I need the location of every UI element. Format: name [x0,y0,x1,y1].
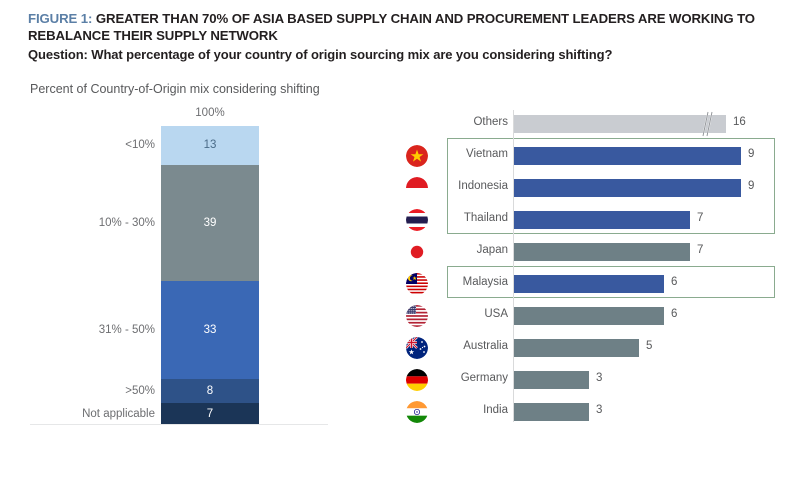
stack-segment-label: Not applicable [82,408,155,420]
bar-row-label: USA [430,308,508,320]
right-chart-baseline [513,110,514,422]
bar-value-label: 3 [596,372,602,384]
bar-row-label: Others [430,116,508,128]
stack-segment: 31% - 50%33 [161,281,259,379]
stack-segment: Not applicable7 [161,403,259,424]
bar-value-label: 5 [646,340,652,352]
japan-flag-icon [406,241,428,263]
vietnam-flag-icon [406,145,428,167]
thailand-flag-icon [406,209,428,231]
bar [513,371,589,389]
usa-flag-icon [406,305,428,327]
bar-row-label: Germany [430,372,508,384]
stack-segment: 10% - 30%39 [161,165,259,281]
bar-value-label: 3 [596,404,602,416]
stack-segment: >50%8 [161,379,259,403]
stack-segment-value: 7 [207,408,213,420]
indonesia-flag-icon [406,177,428,199]
bar [513,403,589,421]
stack-segment-label: 31% - 50% [99,324,155,336]
southeast-asia-highlight-box [447,266,775,298]
malaysia-flag-icon [406,273,428,295]
bar-row-label: Australia [430,340,508,352]
right-bar-chart: China '+1' preferred location for origin… [400,0,800,478]
bar-value-label: 7 [697,244,703,256]
left-chart-total-label: 100% [161,107,259,119]
left-chart-axis-line [30,424,328,425]
stack-segment-value: 8 [207,385,213,397]
stack-segment-label: 10% - 30% [99,217,155,229]
bar [513,243,690,261]
bar [513,339,639,357]
bar-row: Germany3 [400,364,800,396]
southeast-asia-highlight-box [447,138,775,234]
bar-row: Japan7 [400,236,800,268]
bar-value-label: 6 [671,308,677,320]
australia-flag-icon [406,337,428,359]
bar-row-label: India [430,404,508,416]
stack-segment-label: <10% [125,139,155,151]
stack-segment-value: 39 [204,217,217,229]
bar-row-label: Japan [430,244,508,256]
left-chart-subtitle: Percent of Country-of-Origin mix conside… [30,82,320,96]
figure-page: FIGURE 1: GREATER THAN 70% OF ASIA BASED… [0,0,800,478]
left-stacked-bar-chart: Percent of Country-of-Origin mix conside… [0,0,380,478]
bar [513,307,664,325]
bar-row: Australia5 [400,332,800,364]
bar-row: Others16 [400,108,800,140]
germany-flag-icon [406,369,428,391]
bar-value-label: 16 [733,116,746,128]
bar [513,115,726,133]
stack-segment-label: >50% [125,385,155,397]
bar-row: India3 [400,396,800,428]
bar-row: USA6 [400,300,800,332]
india-flag-icon [406,401,428,423]
stack-segment-value: 33 [204,324,217,336]
stacked-bar: <10%1310% - 30%3931% - 50%33>50%8Not app… [161,126,259,424]
stack-segment-value: 13 [204,139,217,151]
stack-segment: <10%13 [161,126,259,165]
